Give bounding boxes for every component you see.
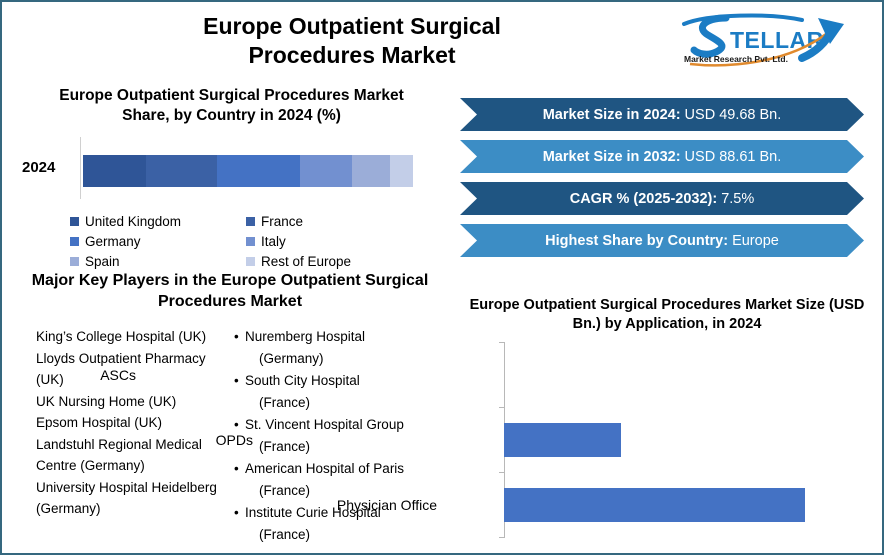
bullet-icon: • [234,458,245,502]
key-player-item: •South City Hospital(France) [234,370,442,414]
application-chart-title: Europe Outpatient Surgical Procedures Ma… [467,296,867,335]
svg-text:TELLAR: TELLAR [730,27,824,53]
share-chart-category-label: 2024 [22,159,55,176]
application-chart-bar [504,423,621,457]
key-player-label: South City Hospital(France) [245,370,360,414]
legend-item[interactable]: Germany [70,232,246,251]
share-chart-title: Europe Outpatient Surgical Procedures Ma… [44,86,419,126]
axis-tick [499,342,504,343]
share-segment-italy [300,155,352,187]
key-players-title: Major Key Players in the Europe Outpatie… [20,270,440,313]
legend-item[interactable]: Italy [246,232,422,251]
legend-item-label: Spain [85,252,120,271]
infographic-page: Europe Outpatient Surgical Procedures Ma… [0,0,884,555]
share-segment-united-kingdom [83,155,146,187]
share-segment-spain [352,155,390,187]
kpi-banner-label: Market Size in 2032: [543,149,681,165]
kpi-banner: Market Size in 2032:USD 88.61 Bn. [460,140,864,173]
kpi-banner-label: CAGR % (2025-2032): [570,191,717,207]
legend-item-label: Rest of Europe [261,252,351,271]
kpi-banner-value: USD 88.61 Bn. [685,149,782,165]
key-player-label: St. Vincent Hospital Group(France) [245,414,404,458]
legend-swatch-icon [70,237,79,246]
share-chart-plot [80,137,416,199]
key-player-item: •St. Vincent Hospital Group(France) [234,414,442,458]
legend-item[interactable]: Spain [70,252,246,271]
legend-item[interactable]: France [246,212,422,231]
legend-swatch-icon [246,237,255,246]
legend-swatch-icon [70,217,79,226]
share-stacked-bar [83,155,413,187]
kpi-banner-value: Europe [732,233,779,249]
share-chart-axis [80,137,81,199]
legend-swatch-icon [70,257,79,266]
bullet-icon: • [234,326,245,370]
legend-item-label: Germany [85,232,141,251]
application-chart-row: OPDs [504,407,621,472]
key-player-label: Nuremberg Hospital(Germany) [245,326,365,370]
application-chart-category-label: ASCs [16,366,136,384]
kpi-banner: CAGR % (2025-2032):7.5% [460,182,864,215]
key-player-item: King’s College Hospital (UK) [36,326,236,348]
page-title: Europe Outpatient Surgical Procedures Ma… [152,12,552,71]
logo-tagline: Market Research Pvt. Ltd. [684,54,788,64]
share-segment-rest-of-europe [390,155,413,187]
legend-item[interactable]: United Kingdom [70,212,246,231]
kpi-banner-value: 7.5% [721,191,754,207]
key-players-left-column: King’s College Hospital (UK)Lloyds Outpa… [36,326,236,520]
legend-swatch-icon [246,217,255,226]
legend-item[interactable]: Rest of Europe [246,252,422,271]
bullet-icon: • [234,370,245,414]
stellar-logo: TELLAR Market Research Pvt. Ltd. [674,10,854,72]
axis-tick [499,407,504,408]
share-segment-france [146,155,217,187]
legend-item-label: France [261,212,303,231]
share-chart-legend: United KingdomFranceGermanyItalySpainRes… [70,212,420,271]
kpi-banner-label: Highest Share by Country: [545,233,728,249]
kpi-banner-label: Market Size in 2024: [543,107,681,123]
bullet-icon: • [234,502,245,546]
kpi-banner-value: USD 49.68 Bn. [685,107,782,123]
legend-item-label: United Kingdom [85,212,181,231]
legend-swatch-icon [246,257,255,266]
axis-tick [499,537,504,538]
key-player-item: University Hospital Heidelberg (Germany) [36,477,236,520]
legend-item-label: Italy [261,232,286,251]
application-chart-row: Physician Office [504,472,805,537]
application-chart-category-label: OPDs [133,431,253,449]
kpi-banner: Market Size in 2024:USD 49.68 Bn. [460,98,864,131]
share-segment-germany [217,155,300,187]
key-player-item: •Nuremberg Hospital(Germany) [234,326,442,370]
kpi-banner: Highest Share by Country:Europe [460,224,864,257]
axis-tick [499,472,504,473]
key-player-item: UK Nursing Home (UK) [36,391,236,413]
application-chart-bar [504,488,805,522]
kpi-banner-list: Market Size in 2024:USD 49.68 Bn.Market … [460,98,864,266]
logo-graphic: TELLAR Market Research Pvt. Ltd. [674,10,854,72]
application-chart-category-label: Physician Office [317,496,437,514]
application-chart-plot: ASCsOPDsPhysician Office [504,342,864,542]
